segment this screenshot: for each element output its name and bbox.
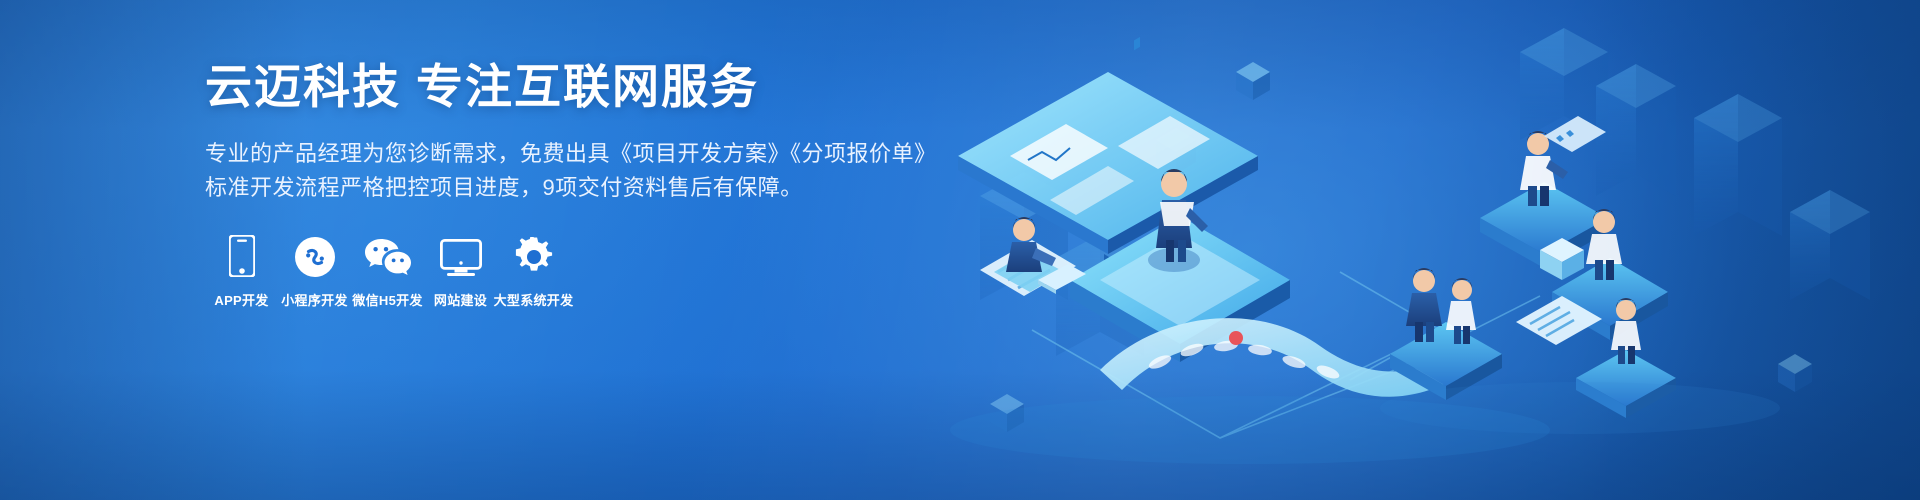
service-label-wechat: 微信H5开发 [352,290,422,309]
service-item-miniprogram[interactable]: 小程序开发 [278,231,351,309]
monitor-icon [440,231,482,277]
subtitle-line-2: 标准开发流程严格把控项目进度，9项交付资料售后有保障。 [205,171,965,205]
service-item-wechat[interactable]: 微信H5开发 [351,231,424,309]
subtitle-line-1: 专业的产品经理为您诊断需求，免费出具《项目开发方案》《分项报价单》 [205,137,965,171]
service-label-miniprogram: 小程序开发 [281,290,348,309]
hero-banner: 云迈科技 专注互联网服务 专业的产品经理为您诊断需求，免费出具《项目开发方案》《… [0,0,1920,500]
wechat-icon [365,231,411,277]
isometric-tech-teamwork-illustration [920,0,1920,500]
service-label-system: 大型系统开发 [494,290,574,309]
gear-icon [514,231,554,277]
service-icon-row: APP开发 小程序开发 [205,231,965,309]
mini-program-icon [295,231,335,277]
service-label-app: APP开发 [214,290,268,309]
subtitle-block: 专业的产品经理为您诊断需求，免费出具《项目开发方案》《分项报价单》 标准开发流程… [205,137,965,205]
service-item-app[interactable]: APP开发 [205,231,278,309]
banner-content: 云迈科技 专注互联网服务 专业的产品经理为您诊断需求，免费出具《项目开发方案》《… [205,62,965,309]
service-label-website: 网站建设 [434,290,487,309]
page-title: 云迈科技 专注互联网服务 [205,62,965,113]
service-item-system[interactable]: 大型系统开发 [497,231,570,309]
service-item-website[interactable]: 网站建设 [424,231,497,309]
mobile-phone-icon [229,231,255,277]
